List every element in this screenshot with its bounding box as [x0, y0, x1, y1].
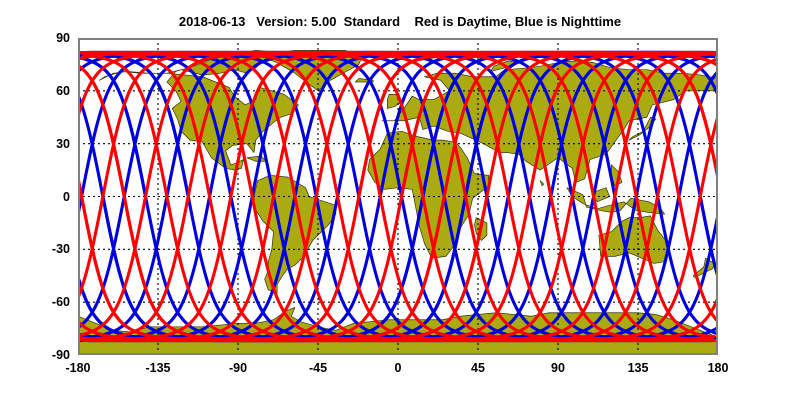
y-tick-label: 90	[20, 31, 70, 45]
y-tick-label: 30	[20, 137, 70, 151]
x-tick-label: 135	[628, 361, 649, 375]
x-tick-label: 0	[395, 361, 402, 375]
y-tick-label: -30	[20, 242, 70, 256]
x-tick-label: 180	[708, 361, 729, 375]
ground-track-map	[78, 38, 718, 355]
y-tick-label: 0	[20, 190, 70, 204]
y-tick-label: -90	[20, 348, 70, 362]
y-tick-label: -60	[20, 295, 70, 309]
x-tick-label: 45	[471, 361, 485, 375]
x-tick-label: -180	[65, 361, 90, 375]
chart-figure: 2018-06-13 Version: 5.00 Standard Red is…	[0, 0, 800, 400]
x-tick-label: 90	[551, 361, 565, 375]
x-tick-label: -45	[309, 361, 327, 375]
x-tick-label: -90	[229, 361, 247, 375]
x-tick-label: -135	[145, 361, 170, 375]
y-tick-label: 60	[20, 84, 70, 98]
chart-title: 2018-06-13 Version: 5.00 Standard Red is…	[0, 14, 800, 29]
